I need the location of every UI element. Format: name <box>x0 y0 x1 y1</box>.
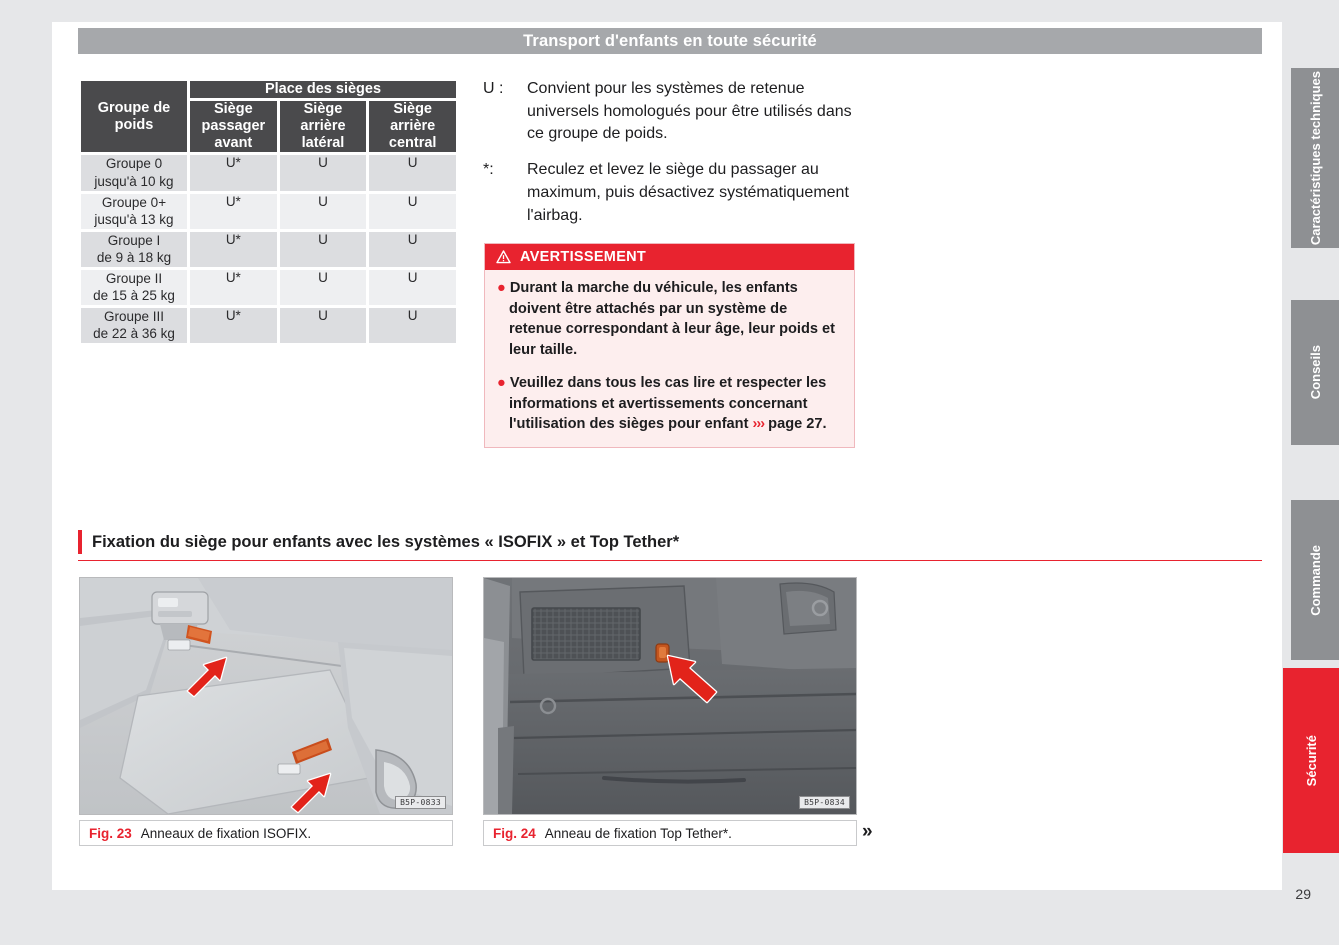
group-range: jusqu'à 10 kg <box>94 174 173 189</box>
table-cell-group: Groupe 0 jusqu'à 10 kg <box>81 155 187 190</box>
section-divider <box>78 560 1262 561</box>
page-number: 29 <box>1295 886 1311 902</box>
figure-23-watermark: B5P-0833 <box>395 796 446 809</box>
figure-24-number: Fig. 24 <box>493 826 536 841</box>
group-range: de 15 à 25 kg <box>93 288 175 303</box>
table-cell-lateral: U <box>280 232 367 267</box>
figure-24-image: B5P-0834 <box>483 577 857 815</box>
table-row: Groupe I de 9 à 18 kg U* U U <box>81 232 456 267</box>
continuation-marker-icon: » <box>862 821 873 843</box>
table-cell-central: U <box>369 270 456 305</box>
table-cell-group: Groupe I de 9 à 18 kg <box>81 232 187 267</box>
figure-23-image: B5P-0833 <box>79 577 453 815</box>
table-header-siege-arriere-lateral: Siège arrière latéral <box>280 101 367 152</box>
group-name: Groupe 0+ <box>102 195 166 210</box>
table-row: Groupe 0+ jusqu'à 13 kg U* U U <box>81 194 456 229</box>
warning-body: ● Durant la marche du véhicule, les enfa… <box>485 270 854 447</box>
reference-chevron-icon: ››› <box>753 416 765 432</box>
table-header-group-de-poids: Groupe de poids <box>81 81 187 152</box>
figure-23: B5P-0833 Fig. 23 Anneaux de fixation ISO… <box>79 577 453 846</box>
table-row: Groupe II de 15 à 25 kg U* U U <box>81 270 456 305</box>
side-tab-securite[interactable]: Sécurité <box>1283 668 1339 853</box>
child-seat-placement-table: Groupe de poids Place des sièges Siège p… <box>78 78 459 346</box>
legend-text: Convient pour les systèmes de retenue un… <box>527 78 859 146</box>
warning-item-text: Durant la marche du véhicule, les enfant… <box>509 280 835 358</box>
table-cell-central: U <box>369 155 456 190</box>
table-cell-front: U* <box>190 308 277 343</box>
running-header-title: Transport d'enfants en toute sécurité <box>523 32 817 51</box>
table-cell-lateral: U <box>280 155 367 190</box>
warning-title: AVERTISSEMENT <box>520 249 646 265</box>
table-header-row-1: Groupe de poids Place des sièges <box>81 81 456 98</box>
table-header-place-des-sieges: Place des sièges <box>190 81 456 98</box>
warning-item: ● Veuillez dans tous les cas lire et res… <box>497 373 842 435</box>
table-cell-front: U* <box>190 270 277 305</box>
table-cell-front: U* <box>190 232 277 267</box>
figure-23-caption: Fig. 23 Anneaux de fixation ISOFIX. <box>79 820 453 846</box>
figure-23-number: Fig. 23 <box>89 826 132 841</box>
legend-key: *: <box>483 159 527 227</box>
trunk-top-tether-anchor-photo <box>484 578 856 814</box>
side-tab-label: Caractéristiques techniques <box>1308 71 1323 245</box>
legend-item-u: U : Convient pour les systèmes de retenu… <box>483 78 859 146</box>
side-tab-label: Commande <box>1308 545 1323 616</box>
figure-24-watermark: B5P-0834 <box>799 796 850 809</box>
side-tab-label: Sécurité <box>1304 735 1319 786</box>
figure-24-caption-text: Anneau de fixation Top Tether*. <box>545 826 732 841</box>
warning-bullet-icon: ● <box>497 280 506 296</box>
table-cell-group: Groupe III de 22 à 36 kg <box>81 308 187 343</box>
side-tab-label: Conseils <box>1308 345 1323 399</box>
table-cell-lateral: U <box>280 194 367 229</box>
warning-page-reference[interactable]: page 27. <box>768 416 826 432</box>
figure-23-caption-text: Anneaux de fixation ISOFIX. <box>141 826 311 841</box>
warning-bullet-icon: ● <box>497 375 506 391</box>
table-cell-central: U <box>369 232 456 267</box>
side-tab-conseils[interactable]: Conseils <box>1291 300 1339 445</box>
legend-key: U : <box>483 78 527 146</box>
legend-item-asterisk: *: Reculez et levez le siège du passager… <box>483 159 859 227</box>
side-tab-commande[interactable]: Commande <box>1291 500 1339 660</box>
rear-seat-isofix-anchor-photo <box>80 578 452 814</box>
running-header: Transport d'enfants en toute sécurité <box>78 28 1262 54</box>
figure-24-caption: Fig. 24 Anneau de fixation Top Tether*. <box>483 820 857 846</box>
group-range: jusqu'à 13 kg <box>94 212 173 227</box>
warning-item: ● Durant la marche du véhicule, les enfa… <box>497 278 842 361</box>
legend-text: Reculez et levez le siège du passager au… <box>527 159 859 227</box>
table-header-siege-passager-avant: Siège passager avant <box>190 101 277 152</box>
group-name: Groupe II <box>106 271 162 286</box>
group-range: de 22 à 36 kg <box>93 326 175 341</box>
table-cell-group: Groupe II de 15 à 25 kg <box>81 270 187 305</box>
group-name: Groupe III <box>104 309 164 324</box>
table-cell-central: U <box>369 308 456 343</box>
table-header-siege-arriere-central: Siège arrière central <box>369 101 456 152</box>
section-heading-block: Fixation du siège pour enfants avec les … <box>78 530 1262 561</box>
group-name: Groupe 0 <box>106 156 162 171</box>
section-heading-text: Fixation du siège pour enfants avec les … <box>92 533 679 552</box>
table-row: Groupe III de 22 à 36 kg U* U U <box>81 308 456 343</box>
side-tab-caracteristiques-techniques[interactable]: Caractéristiques techniques <box>1291 68 1339 248</box>
group-name: Groupe I <box>108 233 161 248</box>
table-cell-group: Groupe 0+ jusqu'à 13 kg <box>81 194 187 229</box>
table-cell-lateral: U <box>280 270 367 305</box>
legend-list: U : Convient pour les systèmes de retenu… <box>483 78 859 240</box>
table-cell-front: U* <box>190 194 277 229</box>
table-cell-front: U* <box>190 155 277 190</box>
warning-triangle-icon <box>496 250 511 264</box>
section-heading: Fixation du siège pour enfants avec les … <box>78 530 1262 554</box>
figure-24: B5P-0834 Fig. 24 Anneau de fixation Top … <box>483 577 857 846</box>
warning-box: AVERTISSEMENT ● Durant la marche du véhi… <box>484 243 855 448</box>
group-range: de 9 à 18 kg <box>97 250 171 265</box>
table-cell-central: U <box>369 194 456 229</box>
table-cell-lateral: U <box>280 308 367 343</box>
warning-header: AVERTISSEMENT <box>485 244 854 270</box>
table-row: Groupe 0 jusqu'à 10 kg U* U U <box>81 155 456 190</box>
